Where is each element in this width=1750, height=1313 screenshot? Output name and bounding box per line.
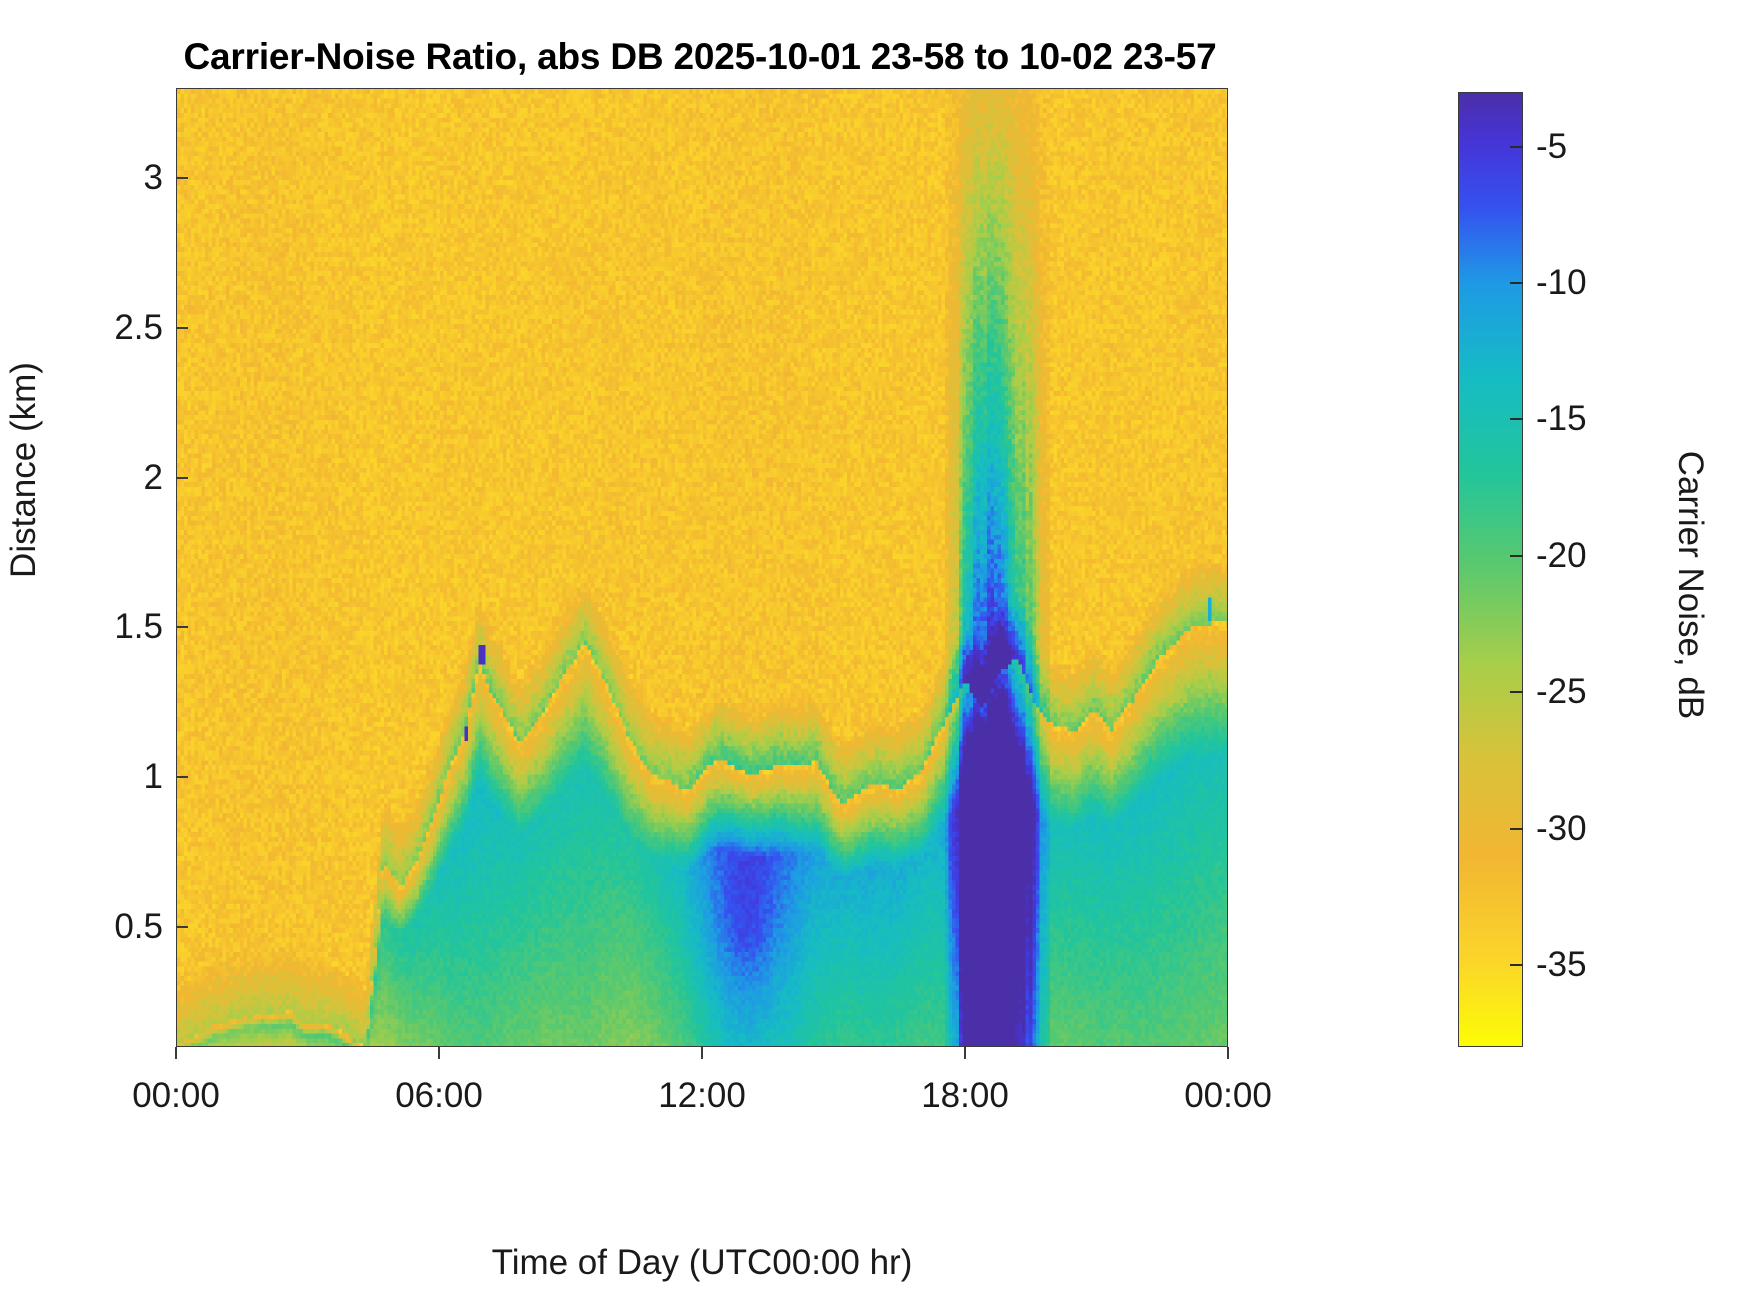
y-tick-label: 1 — [63, 757, 163, 797]
y-tick-mark — [176, 327, 188, 329]
y-tick-label: 2 — [63, 458, 163, 498]
colorbar-tick-mark — [1510, 828, 1523, 830]
y-tick-label: 1.5 — [63, 607, 163, 647]
y-tick-mark — [176, 477, 188, 479]
colorbar-tick-mark — [1510, 555, 1523, 557]
y-tick-mark — [176, 926, 188, 928]
heatmap-axes[interactable] — [176, 88, 1228, 1047]
colorbar-tick-mark — [1510, 691, 1523, 693]
x-axis-label: Time of Day (UTC00:00 hr) — [176, 1243, 1228, 1283]
x-tick-mark — [964, 1047, 966, 1059]
y-tick-mark — [176, 776, 188, 778]
y-tick-mark — [176, 626, 188, 628]
colorbar-tick-mark — [1510, 146, 1523, 148]
colorbar-tick-label: -20 — [1536, 536, 1676, 576]
x-tick-label: 18:00 — [865, 1076, 1065, 1116]
x-tick-mark — [438, 1047, 440, 1059]
colorbar-tick-label: -25 — [1536, 672, 1676, 712]
x-tick-label: 06:00 — [339, 1076, 539, 1116]
heatmap-image[interactable] — [177, 89, 1228, 1047]
y-axis-ticks: 0.511.522.53 — [45, 88, 163, 1047]
x-axis-ticks: 00:0006:0012:0018:0000:00 — [176, 1047, 1228, 1137]
colorbar-ticks: -5-10-15-20-25-30-35 — [1458, 92, 1698, 1047]
y-tick-label: 2.5 — [63, 308, 163, 348]
colorbar-tick-label: -5 — [1536, 127, 1676, 167]
x-tick-label: 12:00 — [602, 1076, 802, 1116]
colorbar-tick-mark — [1510, 418, 1523, 420]
colorbar-tick-label: -35 — [1536, 945, 1676, 985]
colorbar-tick-mark — [1510, 964, 1523, 966]
y-tick-label: 0.5 — [63, 907, 163, 947]
x-tick-mark — [1227, 1047, 1229, 1059]
x-tick-label: 00:00 — [1128, 1076, 1328, 1116]
x-tick-mark — [701, 1047, 703, 1059]
x-tick-label: 00:00 — [76, 1076, 276, 1116]
colorbar-tick-label: -10 — [1536, 263, 1676, 303]
colorbar-tick-mark — [1510, 282, 1523, 284]
figure-canvas: Carrier-Noise Ratio, abs DB 2025-10-01 2… — [0, 0, 1750, 1313]
page-title: Carrier-Noise Ratio, abs DB 2025-10-01 2… — [0, 36, 1400, 78]
y-tick-mark — [176, 177, 188, 179]
y-tick-label: 3 — [63, 158, 163, 198]
colorbar-label: Carrier Noise, dB — [1670, 365, 1710, 805]
x-tick-mark — [175, 1047, 177, 1059]
colorbar-tick-label: -30 — [1536, 809, 1676, 849]
y-axis-label: Distance (km) — [4, 250, 44, 690]
colorbar-tick-label: -15 — [1536, 399, 1676, 439]
